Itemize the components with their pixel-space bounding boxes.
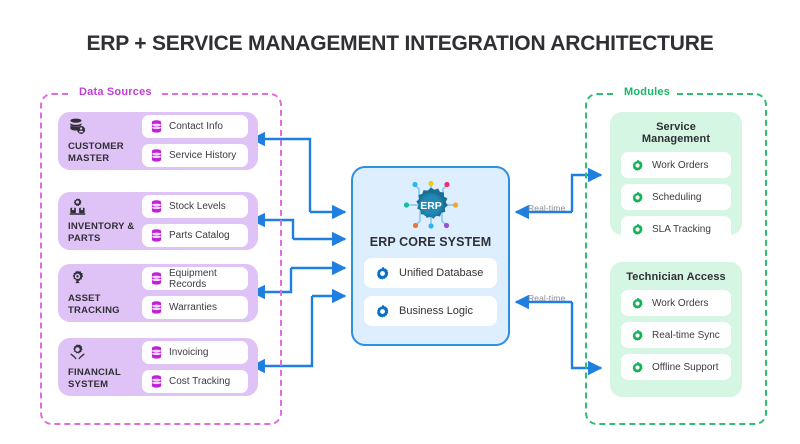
module-chip-offline-support[interactable]: Offline Support xyxy=(621,354,731,380)
database-icon xyxy=(151,229,162,242)
module-chip-real-time-sync[interactable]: Real-time Sync xyxy=(621,322,731,348)
source-card-inventory-parts[interactable]: INVENTORY & PARTS Stock Levels xyxy=(58,192,258,250)
chip-label: Invoicing xyxy=(169,347,208,358)
source-name: FINANCIAL SYSTEM xyxy=(68,367,142,391)
gear-icon xyxy=(631,223,644,236)
realtime-label-bottom: Real-time xyxy=(528,293,565,303)
database-icon xyxy=(151,301,162,314)
chip-label: Warranties xyxy=(169,302,217,313)
chip-label: Cost Tracking xyxy=(169,376,230,387)
module-title: Service Management xyxy=(621,121,731,145)
source-card-financial-system[interactable]: FINANCIAL SYSTEM Invoicing xyxy=(58,338,258,396)
erp-icon-text: ERP xyxy=(420,200,442,212)
source-card-customer-master[interactable]: CUSTOMER MASTER Contact Info xyxy=(58,112,258,170)
chip-label: Real-time Sync xyxy=(652,330,720,341)
database-icon xyxy=(151,375,162,388)
data-sources-label: Data Sources xyxy=(72,86,159,98)
database-icon xyxy=(151,200,162,213)
gear-icon xyxy=(375,304,390,319)
module-card-technician-access[interactable]: Technician Access Work Orders Real-time … xyxy=(610,262,742,397)
source-chip-cost-tracking[interactable]: Cost Tracking xyxy=(142,370,248,393)
module-chip-sla-tracking[interactable]: SLA Tracking xyxy=(621,216,731,242)
erp-core-title: ERP CORE SYSTEM xyxy=(370,235,491,249)
source-name: ASSET TRACKING xyxy=(68,293,142,317)
erp-gear-network-icon: ERP xyxy=(399,176,463,234)
source-name: CUSTOMER MASTER xyxy=(68,141,142,165)
gear-target-icon xyxy=(68,269,87,288)
source-card-heading: ASSET TRACKING xyxy=(68,269,142,317)
source-chip-warranties[interactable]: Warranties xyxy=(142,296,248,319)
erp-core-card[interactable]: ERP ERP CORE SYSTEM Unified Database Bus… xyxy=(351,166,510,346)
source-card-heading: INVENTORY & PARTS xyxy=(68,197,142,245)
chip-label: Offline Support xyxy=(652,362,719,373)
source-chip-invoicing[interactable]: Invoicing xyxy=(142,341,248,364)
warehouse-gear-icon xyxy=(68,197,87,216)
gear-icon xyxy=(375,266,390,281)
erp-chip-unified-database[interactable]: Unified Database xyxy=(364,258,497,288)
database-user-icon xyxy=(68,117,87,136)
erp-chip-business-logic[interactable]: Business Logic xyxy=(364,296,497,326)
source-chip-contact-info[interactable]: Contact Info xyxy=(142,115,248,138)
source-card-heading: FINANCIAL SYSTEM xyxy=(68,343,142,391)
source-chip-service-history[interactable]: Service History xyxy=(142,144,248,167)
modules-label: Modules xyxy=(617,86,677,98)
chip-label: Equipment Records xyxy=(169,268,239,290)
database-icon xyxy=(151,149,162,162)
chip-label: Unified Database xyxy=(399,267,483,279)
source-card-heading: CUSTOMER MASTER xyxy=(68,117,142,165)
source-card-asset-tracking[interactable]: ASSET TRACKING Equipment Records xyxy=(58,264,258,322)
gear-icon xyxy=(631,361,644,374)
chip-label: Work Orders xyxy=(652,160,709,171)
source-items: Stock Levels Parts Catalog xyxy=(142,195,248,247)
source-items: Equipment Records Warranties xyxy=(142,267,248,319)
module-chip-work-orders[interactable]: Work Orders xyxy=(621,152,731,178)
gear-icon xyxy=(631,329,644,342)
source-items: Contact Info Service History xyxy=(142,115,248,167)
gear-icon xyxy=(631,297,644,310)
gear-icon xyxy=(631,159,644,172)
module-chip-work-orders-tech[interactable]: Work Orders xyxy=(621,290,731,316)
source-items: Invoicing Cost Tracking xyxy=(142,341,248,393)
module-title: Technician Access xyxy=(621,271,731,283)
module-chip-scheduling[interactable]: Scheduling xyxy=(621,184,731,210)
database-icon xyxy=(151,120,162,133)
chip-label: Stock Levels xyxy=(169,201,226,212)
source-chip-stock-levels[interactable]: Stock Levels xyxy=(142,195,248,218)
module-card-service-management[interactable]: Service Management Work Orders Schedulin… xyxy=(610,112,742,235)
page-title: ERP + SERVICE MANAGEMENT INTEGRATION ARC… xyxy=(0,32,800,56)
chip-label: Scheduling xyxy=(652,192,701,203)
source-chip-parts-catalog[interactable]: Parts Catalog xyxy=(142,224,248,247)
chip-label: Business Logic xyxy=(399,305,473,317)
database-icon xyxy=(151,346,162,359)
chip-label: Parts Catalog xyxy=(169,230,230,241)
chip-label: Service History xyxy=(169,150,236,161)
source-chip-equipment-records[interactable]: Equipment Records xyxy=(142,267,248,290)
source-name: INVENTORY & PARTS xyxy=(68,221,142,245)
chip-label: Contact Info xyxy=(169,121,223,132)
realtime-label-top: Real-time xyxy=(528,203,565,213)
chip-label: Work Orders xyxy=(652,298,709,309)
database-icon xyxy=(151,272,162,285)
gear-hands-icon xyxy=(68,343,87,362)
chip-label: SLA Tracking xyxy=(652,224,711,235)
diagram-canvas: ERP + SERVICE MANAGEMENT INTEGRATION ARC… xyxy=(0,0,800,444)
gear-icon xyxy=(631,191,644,204)
